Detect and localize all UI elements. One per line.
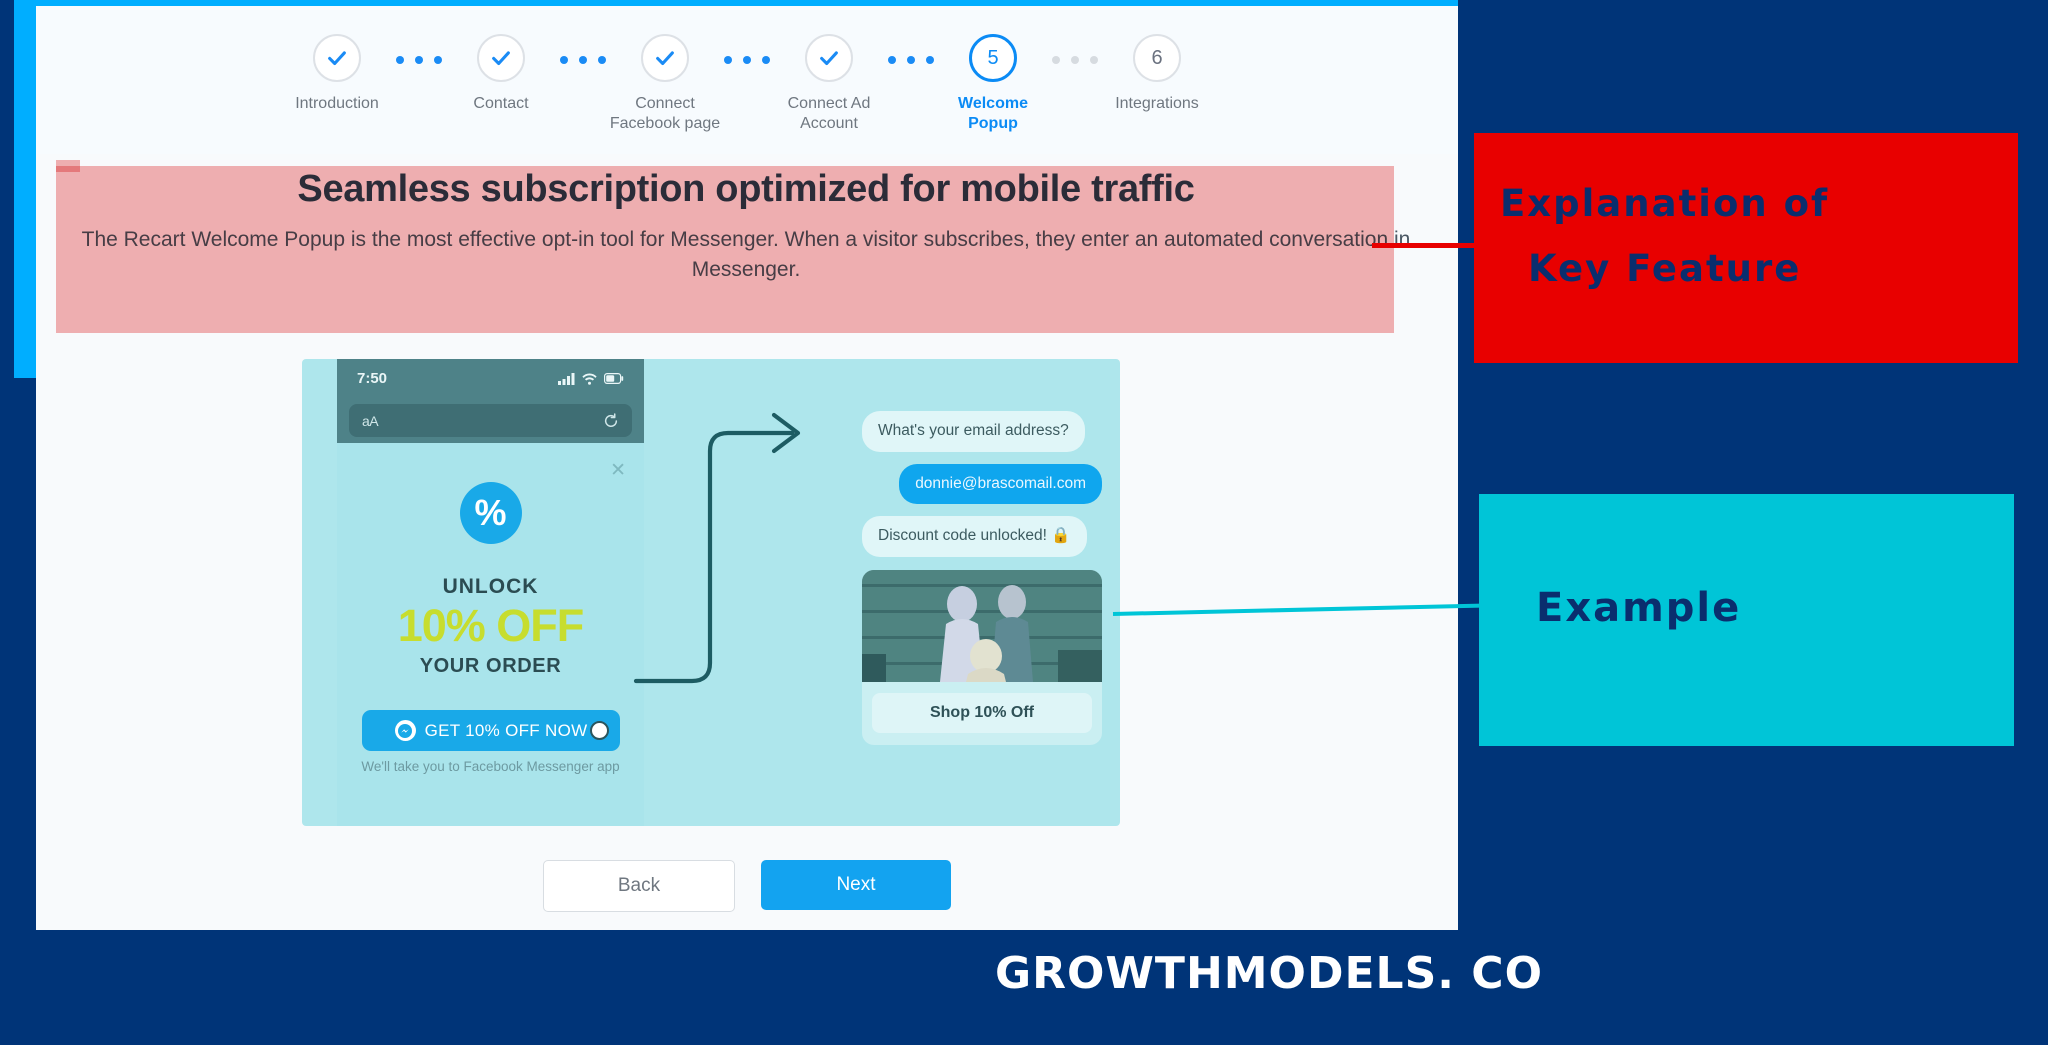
dot	[434, 56, 442, 64]
signal-icon	[558, 373, 575, 385]
dot	[415, 56, 423, 64]
percent-glyph: %	[474, 495, 506, 531]
battery-icon	[604, 373, 624, 384]
messenger-icon	[395, 720, 416, 741]
close-icon[interactable]: ✕	[610, 459, 626, 482]
page-subcopy: The Recart Welcome Popup is the most eff…	[81, 225, 1411, 285]
sidebar-item-welcome-popup[interactable]: 5 Welcome Popup	[934, 34, 1052, 134]
stepper-track: Introduction Contact Connect Facebook pa…	[36, 6, 1458, 154]
popup-cta-button[interactable]: GET 10% OFF NOW	[362, 710, 620, 751]
text-size-icon[interactable]: aA	[362, 413, 378, 429]
step-label-1: Introduction	[295, 94, 379, 114]
stepper-dots-2	[560, 56, 606, 64]
popup-offer-text: 10% OFF	[337, 602, 644, 649]
annotation-teal-line1: Example	[1536, 585, 1741, 631]
popup-unlock-text: UNLOCK	[337, 575, 644, 599]
step-circle-1[interactable]	[313, 34, 361, 82]
welcome-popup-illustration: 7:50 aA	[302, 359, 1120, 826]
annotation-red-line1: Explanation of	[1500, 182, 1829, 225]
highlight-marker-nub	[56, 160, 80, 172]
chat-row-incoming: What's your email address?	[862, 411, 1102, 452]
chat-bubble-outgoing: donnie@brascomail.com	[899, 464, 1102, 505]
chat-bubble-incoming: What's your email address?	[862, 411, 1085, 452]
popup-cta-subtext: We'll take you to Facebook Messenger app	[337, 759, 644, 774]
step-label-4: Connect Ad Account	[788, 94, 871, 134]
shop-button[interactable]: Shop 10% Off	[872, 693, 1092, 733]
phone-mockup: 7:50 aA	[337, 359, 644, 826]
dot	[598, 56, 606, 64]
phone-browser-chrome: aA	[337, 398, 644, 443]
step-number-6: 6	[1151, 48, 1162, 68]
flow-arrow-icon	[632, 409, 852, 709]
stepper-dots-5	[1052, 56, 1098, 64]
step-circle-2[interactable]	[477, 34, 525, 82]
check-icon	[654, 47, 676, 69]
dot	[396, 56, 404, 64]
sidebar-item-connect-facebook-page[interactable]: Connect Facebook page	[606, 34, 724, 134]
chat-bubble-incoming-2: Discount code unlocked! 🔒	[862, 516, 1087, 557]
stepper-dots-3	[724, 56, 770, 64]
next-button[interactable]: Next	[761, 860, 951, 910]
dot	[743, 56, 751, 64]
product-photo-placeholder	[862, 570, 1102, 682]
messenger-bolt-icon	[398, 724, 412, 738]
status-icon-group	[558, 373, 624, 385]
product-card[interactable]: Shop 10% Off	[862, 570, 1102, 745]
watermark: GROWTHMODELS. CO	[995, 948, 1543, 999]
step-circle-3[interactable]	[641, 34, 689, 82]
popup-cta-label: GET 10% OFF NOW	[425, 721, 588, 741]
dot	[1052, 56, 1060, 64]
onboarding-stepper: Introduction Contact Connect Facebook pa…	[36, 6, 1458, 154]
product-image	[862, 570, 1102, 682]
dot	[1090, 56, 1098, 64]
step-circle-4[interactable]	[805, 34, 853, 82]
sidebar-item-integrations[interactable]: 6 Integrations	[1098, 34, 1216, 114]
check-icon	[490, 47, 512, 69]
percent-badge-icon: %	[460, 482, 522, 544]
step-label-3: Connect Facebook page	[610, 94, 720, 134]
dot	[560, 56, 568, 64]
sidebar-item-introduction[interactable]: Introduction	[278, 34, 396, 114]
wifi-icon	[582, 373, 597, 385]
check-icon	[818, 47, 840, 69]
annotation-red-line2: Key Feature	[1528, 247, 1801, 290]
stepper-dots-1	[396, 56, 442, 64]
status-time: 7:50	[357, 370, 387, 387]
cursor-dot-icon	[590, 721, 609, 740]
dot	[907, 56, 915, 64]
dot	[888, 56, 896, 64]
dot	[762, 56, 770, 64]
step-label-6: Integrations	[1115, 94, 1199, 114]
headline-block: Seamless subscription optimized for mobi…	[56, 168, 1436, 285]
chat-row-incoming-2: Discount code unlocked! 🔒	[862, 516, 1102, 557]
stepper-dots-4	[888, 56, 934, 64]
dot	[579, 56, 587, 64]
reload-icon[interactable]	[603, 413, 619, 429]
browser-url-bar[interactable]: aA	[349, 404, 632, 437]
popup-your-order-text: YOUR ORDER	[337, 655, 644, 678]
sidebar-item-connect-ad-account[interactable]: Connect Ad Account	[770, 34, 888, 134]
dot	[1071, 56, 1079, 64]
page-title: Seamless subscription optimized for mobi…	[56, 168, 1436, 211]
dot	[926, 56, 934, 64]
phone-status-bar: 7:50	[337, 359, 644, 398]
check-icon	[326, 47, 348, 69]
step-number-5: 5	[987, 48, 998, 68]
step-label-2: Contact	[473, 94, 528, 114]
step-circle-6[interactable]: 6	[1133, 34, 1181, 82]
messenger-conversation: What's your email address? donnie@brasco…	[862, 411, 1102, 745]
chat-row-outgoing: donnie@brascomail.com	[862, 464, 1102, 505]
wizard-footer: Back Next	[36, 860, 1458, 912]
dot	[724, 56, 732, 64]
back-button[interactable]: Back	[543, 860, 735, 912]
sidebar-item-contact[interactable]: Contact	[442, 34, 560, 114]
step-label-5: Welcome Popup	[934, 94, 1052, 134]
step-circle-5[interactable]: 5	[969, 34, 1017, 82]
